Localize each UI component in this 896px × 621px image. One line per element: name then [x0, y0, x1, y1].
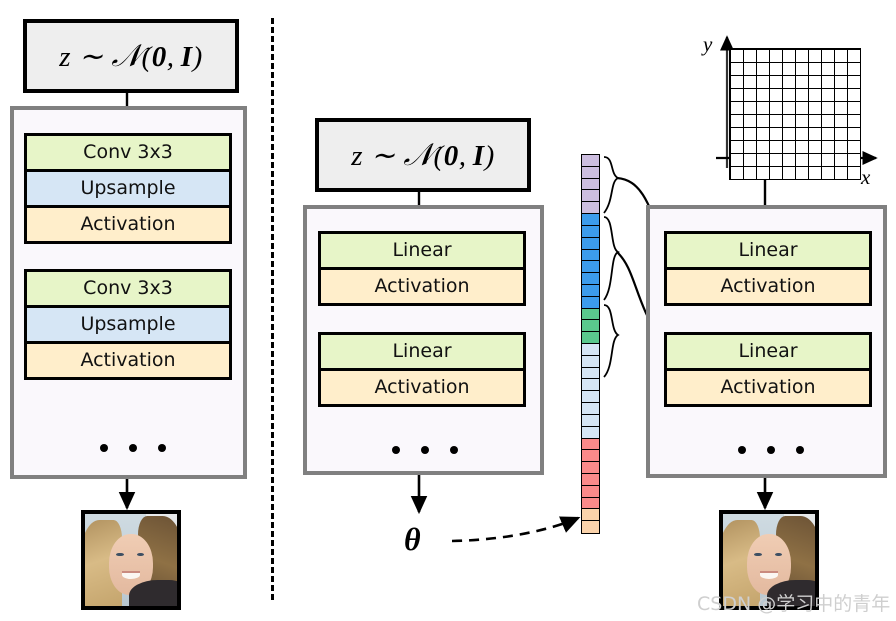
photo-eye-left [754, 553, 761, 557]
group-salmon-cell [582, 462, 599, 474]
latent-box-middle: z ∼ 𝒩(0, I) [315, 118, 531, 192]
group-green-cell [582, 320, 599, 332]
y-axis-label: y [703, 32, 712, 57]
parameters-symbol: θ [404, 521, 421, 558]
dot [100, 444, 108, 452]
layer-linear: Linear [321, 335, 523, 371]
group-salmon-cell [582, 439, 599, 451]
layer-activation: Activation [321, 270, 523, 303]
layer-conv-3x3: Conv 3x3 [27, 136, 229, 172]
dot [158, 444, 166, 452]
pixel-coordinate-grid [700, 20, 890, 170]
predicted-weight-vector [581, 154, 600, 534]
group-lightblue-cell [582, 368, 599, 380]
group-blue-cell [582, 273, 599, 285]
dot [450, 446, 458, 454]
dot [421, 446, 429, 454]
group-salmon-cell [582, 486, 599, 498]
ellipsis-middle [392, 446, 458, 454]
group-blue-cell [582, 214, 599, 226]
layer-conv-3x3: Conv 3x3 [27, 272, 229, 308]
group-purple-cell [582, 179, 599, 191]
ellipsis-left [100, 444, 166, 452]
layer-linear: Linear [667, 335, 869, 371]
group-blue-cell [582, 285, 599, 297]
layer-activation: Activation [321, 371, 523, 404]
group-purple-cell [582, 167, 599, 179]
watermark: CSDN @学习中的青年 [697, 589, 890, 616]
group-purple-cell [582, 155, 599, 167]
column-divider [271, 18, 274, 600]
group-lightblue-cell [582, 356, 599, 368]
group-salmon-cell [582, 450, 599, 462]
layer-activation: Activation [667, 270, 869, 303]
grid-cells [729, 48, 861, 180]
layer-activation: Activation [27, 344, 229, 377]
group-lightblue-cell [582, 344, 599, 356]
layer-activation: Activation [27, 208, 229, 241]
layer-activation: Activation [667, 371, 869, 404]
group-blue-cell [582, 250, 599, 262]
layer-upsample: Upsample [27, 172, 229, 208]
group-lightblue-cell [582, 427, 599, 439]
conv-block-2: Conv 3x3 Upsample Activation [24, 269, 232, 380]
hyper-block-2: Linear Activation [318, 332, 526, 407]
dot [392, 446, 400, 454]
generated-face-image-left [81, 510, 181, 610]
group-green-cell [582, 309, 599, 321]
group-lightblue-cell [582, 391, 599, 403]
hyper-block-1: Linear Activation [318, 231, 526, 306]
group-green-cell [582, 332, 599, 344]
latent-label-left: z ∼ 𝒩(0, I) [59, 38, 203, 75]
group-salmon-cell [582, 498, 599, 510]
group-blue-cell [582, 297, 599, 309]
conv-block-1: Conv 3x3 Upsample Activation [24, 133, 232, 244]
group-blue-cell [582, 226, 599, 238]
group-peach-cell [582, 509, 599, 521]
layer-linear: Linear [667, 234, 869, 270]
group-lightblue-cell [582, 403, 599, 415]
latent-box-left: z ∼ 𝒩(0, I) [23, 19, 239, 93]
layer-linear: Linear [321, 234, 523, 270]
group-salmon-cell [582, 474, 599, 486]
dot [738, 446, 746, 454]
latent-label-middle: z ∼ 𝒩(0, I) [351, 137, 495, 174]
group-purple-cell [582, 190, 599, 202]
group-blue-cell [582, 261, 599, 273]
figure-canvas: z ∼ 𝒩(0, I) Conv 3x3 Upsample Activation… [0, 0, 896, 621]
group-peach-cell [582, 521, 599, 533]
layer-upsample: Upsample [27, 308, 229, 344]
dot [767, 446, 775, 454]
group-lightblue-cell [582, 379, 599, 391]
x-axis-label: x [861, 165, 870, 190]
decoder-block-2: Linear Activation [664, 332, 872, 407]
photo-shoulder [129, 580, 181, 610]
photo-eye-left [116, 553, 123, 557]
group-blue-cell [582, 238, 599, 250]
group-purple-cell [582, 202, 599, 214]
ellipsis-right [738, 446, 804, 454]
group-lightblue-cell [582, 415, 599, 427]
decoder-block-1: Linear Activation [664, 231, 872, 306]
dot [129, 444, 137, 452]
dot [796, 446, 804, 454]
